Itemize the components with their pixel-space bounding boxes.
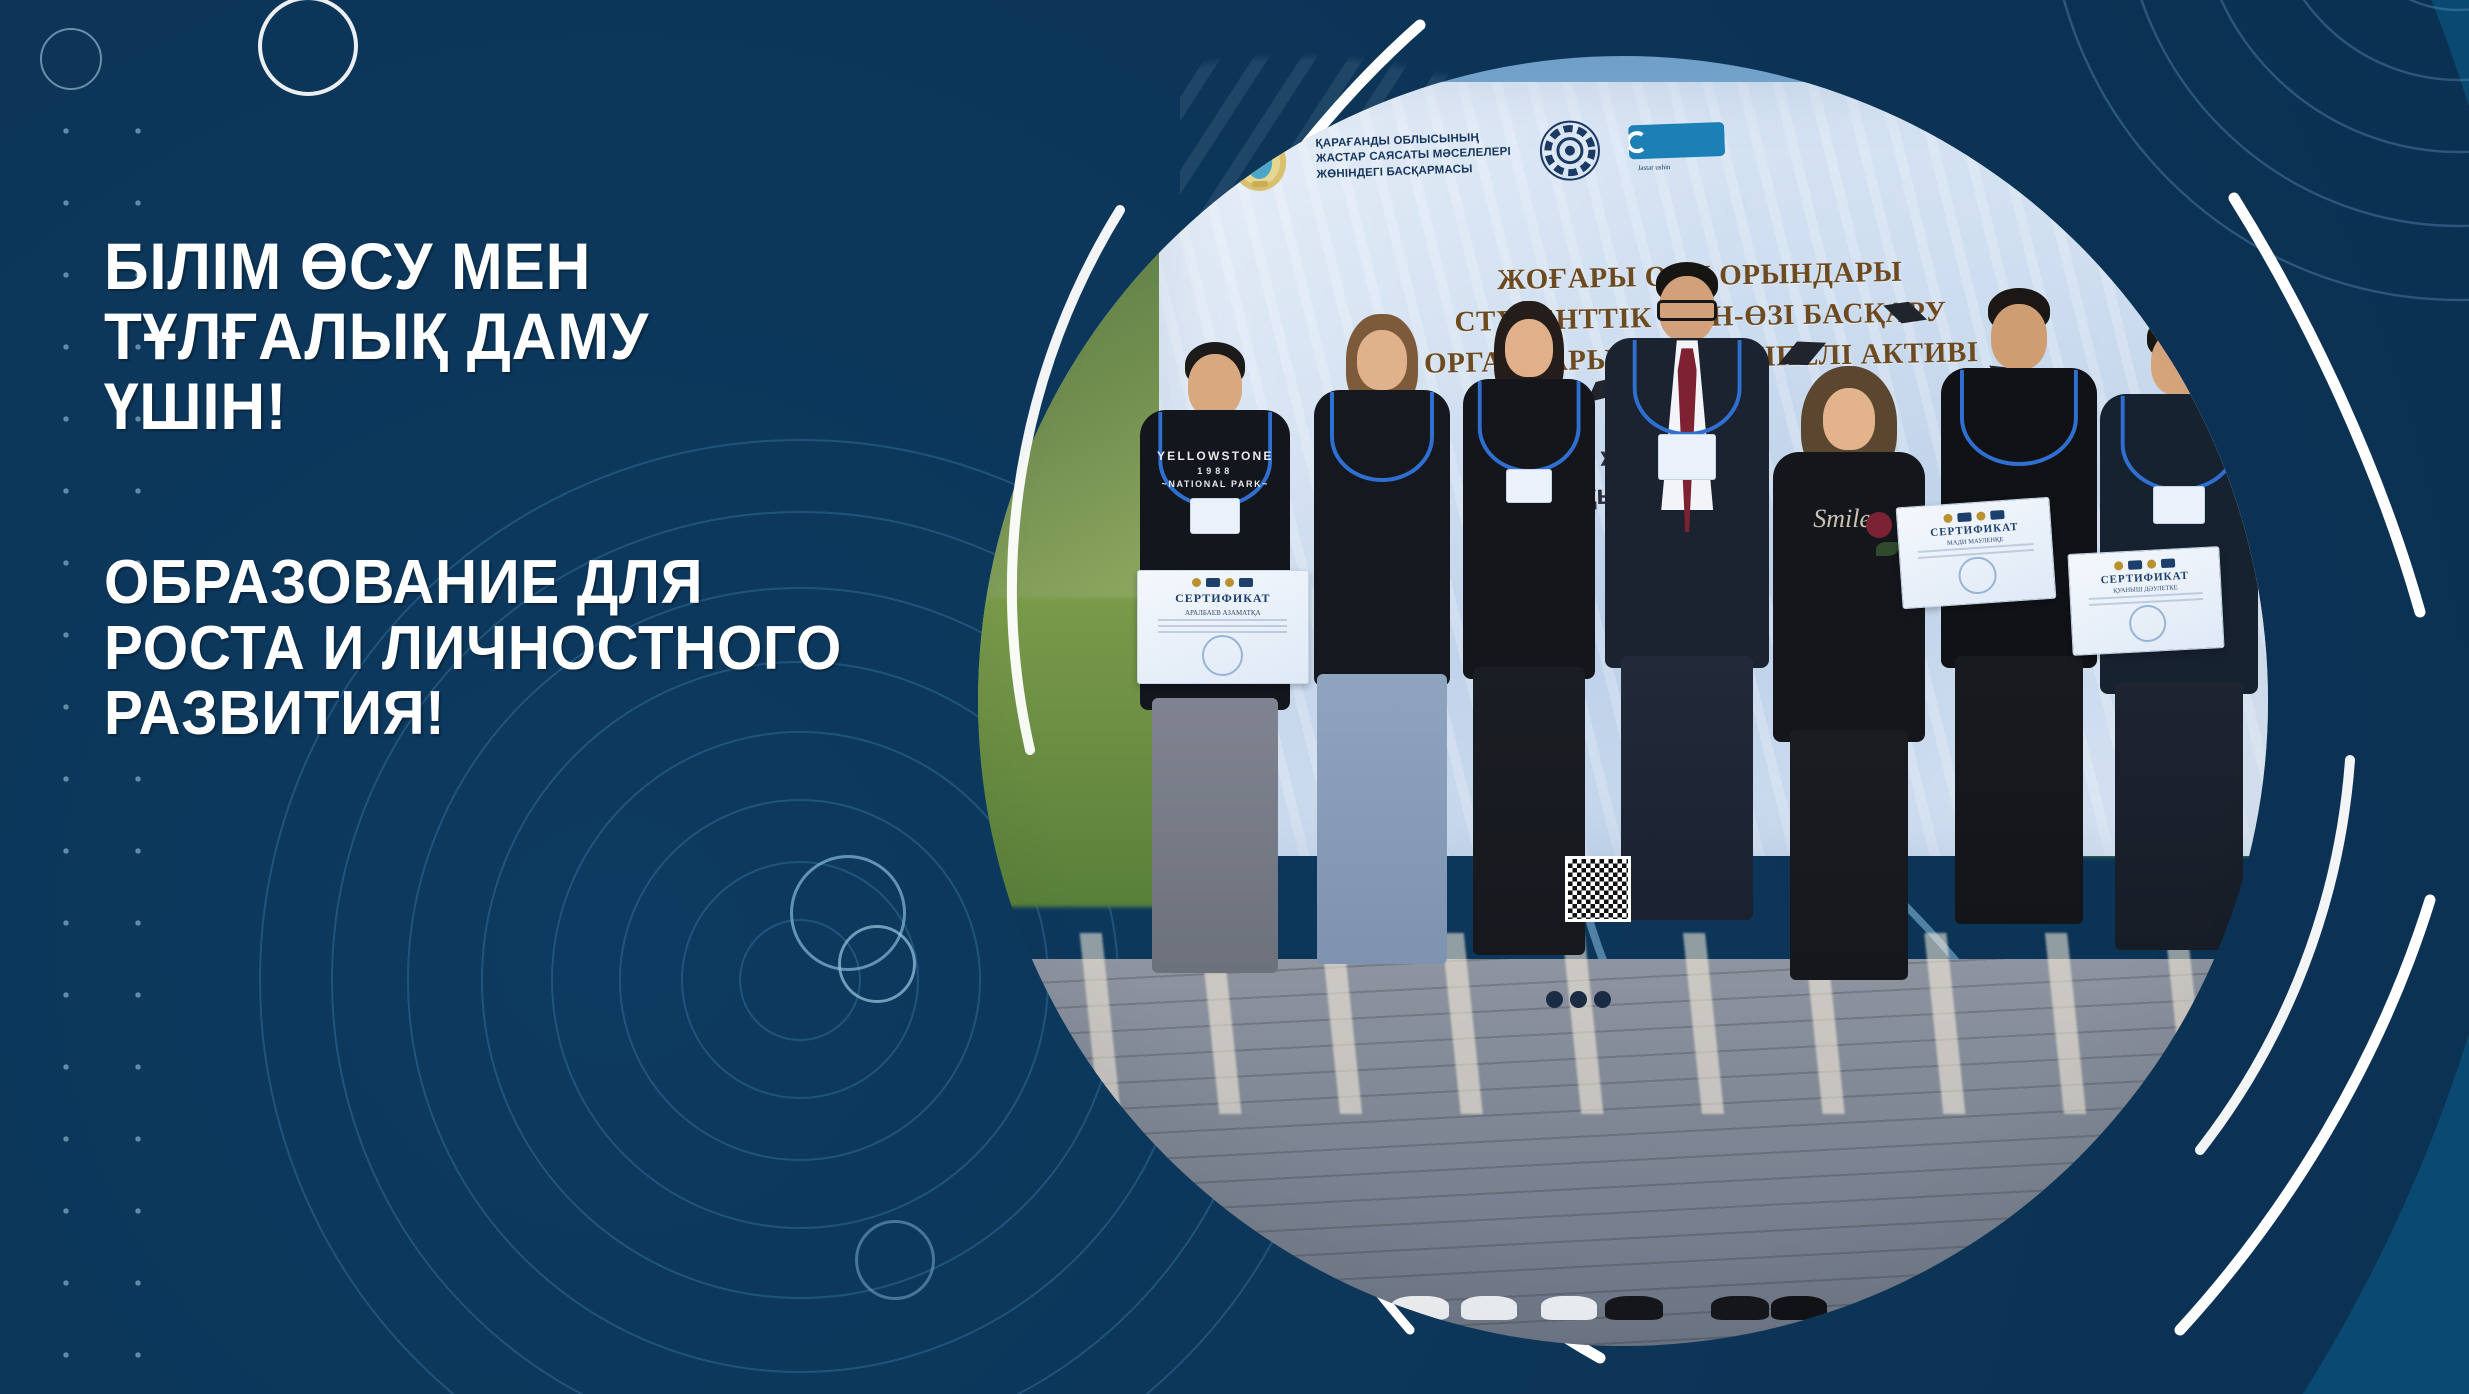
photo-circle-outer-arc [880,0,2469,1394]
slide-canvas: БІЛІМ ӨСУ МЕН ТҰЛҒАЛЫҚ ДАМУ ҮШІН! ОБРАЗО… [0,0,2469,1394]
